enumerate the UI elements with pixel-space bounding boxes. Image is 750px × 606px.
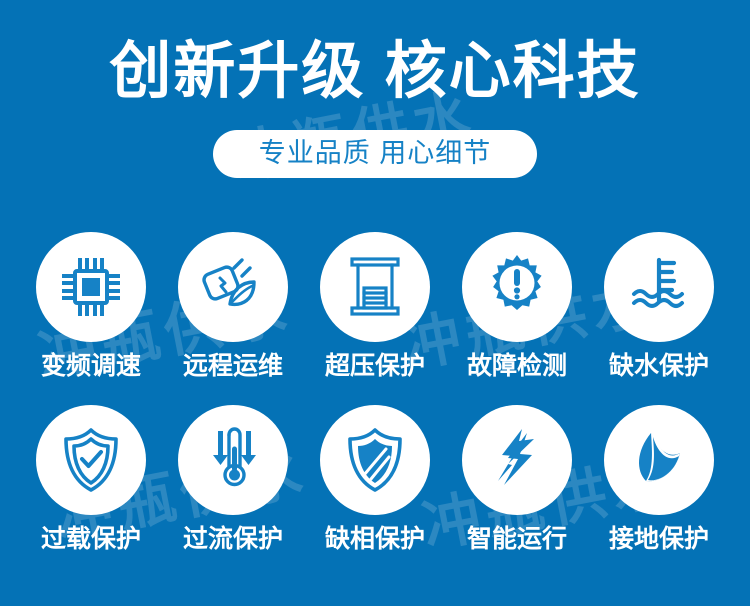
feature-item-variable-frequency[interactable]: 变频调速 <box>20 232 162 381</box>
feature-icon-circle <box>462 232 572 342</box>
feature-label: 缺相保护 <box>304 524 446 554</box>
feature-icon-circle <box>462 405 572 515</box>
shield-check-icon <box>56 425 126 495</box>
subtitle-pill: 专业品质 用心细节 <box>213 130 538 178</box>
lightning-bolt-icon <box>482 425 552 495</box>
feature-row: 变频调速 远程运维 <box>0 232 750 381</box>
feature-item-smart-operation[interactable]: 智能运行 <box>446 405 588 554</box>
gear-alert-icon <box>482 252 552 322</box>
feature-item-overcurrent[interactable]: 过流保护 <box>162 405 304 554</box>
feature-icon-circle <box>178 232 288 342</box>
feature-label: 接地保护 <box>588 524 730 554</box>
feature-item-overload[interactable]: 过载保护 <box>20 405 162 554</box>
feature-label: 过载保护 <box>20 524 162 554</box>
feature-row: 过载保护 <box>0 405 750 554</box>
feature-label: 缺水保护 <box>588 351 730 381</box>
feature-item-remote-ops[interactable]: 远程运维 <box>162 232 304 381</box>
feature-icon-circle <box>36 232 146 342</box>
feature-item-phase-loss[interactable]: 缺相保护 <box>304 405 446 554</box>
feature-label: 超压保护 <box>304 351 446 381</box>
feature-grid: 变频调速 远程运维 <box>0 232 750 554</box>
leaf-drop-icon <box>624 425 694 495</box>
header-subtitle-area: 专业品质 用心细节 <box>0 130 750 178</box>
feature-icon-circle <box>36 405 146 515</box>
page-title: 创新升级 核心科技 <box>109 36 640 108</box>
feature-item-low-water[interactable]: 缺水保护 <box>588 232 730 381</box>
feature-label: 远程运维 <box>162 351 304 381</box>
feature-icon-circle <box>178 405 288 515</box>
feature-item-overpressure[interactable]: 超压保护 <box>304 232 446 381</box>
feature-icon-circle <box>320 232 430 342</box>
feature-icon-circle <box>604 232 714 342</box>
feature-label: 故障检测 <box>446 351 588 381</box>
feature-label: 过流保护 <box>162 524 304 554</box>
shield-stripe-icon <box>340 425 410 495</box>
feature-icon-circle <box>604 405 714 515</box>
thermometer-arrows-icon <box>198 425 268 495</box>
feature-icon-circle <box>320 405 430 515</box>
feature-label: 变频调速 <box>20 351 162 381</box>
plug-leaf-icon <box>198 252 268 322</box>
cpu-chip-icon <box>56 252 126 322</box>
promo-banner: 冲瓶供水 冲瓶供水 冲瓶供水 冲瓶供水 冲瓶供水 创新升级 核心科技 专业品质 … <box>0 0 750 606</box>
feature-item-grounding[interactable]: 接地保护 <box>588 405 730 554</box>
feature-label: 智能运行 <box>446 524 588 554</box>
press-machine-icon <box>340 252 410 322</box>
feature-item-fault-detection[interactable]: 故障检测 <box>446 232 588 381</box>
water-level-gauge-icon <box>624 252 694 322</box>
header-title-area: 创新升级 核心科技 <box>0 36 750 108</box>
